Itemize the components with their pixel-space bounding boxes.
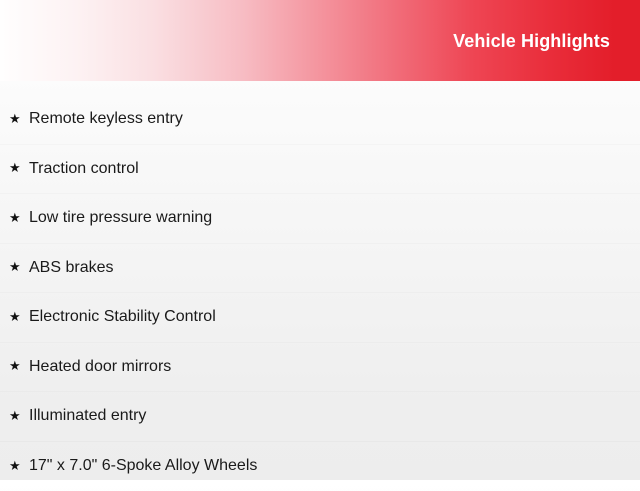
list-item: ★ ABS brakes — [0, 244, 640, 294]
star-icon: ★ — [9, 161, 29, 174]
vehicle-highlights-list: ★ Remote keyless entry ★ Traction contro… — [0, 81, 640, 491]
star-icon: ★ — [9, 211, 29, 224]
list-item: ★ Heated door mirrors — [0, 343, 640, 393]
list-item: ★ Illuminated entry — [0, 392, 640, 442]
star-icon: ★ — [9, 409, 29, 422]
list-item: ★ Electronic Stability Control — [0, 293, 640, 343]
list-item-label: Traction control — [29, 161, 139, 177]
star-icon: ★ — [9, 310, 29, 323]
list-item: ★ 17" x 7.0" 6-Spoke Alloy Wheels — [0, 442, 640, 491]
list-item-label: Illuminated entry — [29, 408, 146, 424]
star-icon: ★ — [9, 112, 29, 125]
star-icon: ★ — [9, 359, 29, 372]
star-icon: ★ — [9, 260, 29, 273]
list-item-label: Heated door mirrors — [29, 359, 171, 375]
list-item: ★ Low tire pressure warning — [0, 194, 640, 244]
list-item: ★ Traction control — [0, 145, 640, 195]
list-item-label: 17" x 7.0" 6-Spoke Alloy Wheels — [29, 458, 257, 474]
list-item-label: Electronic Stability Control — [29, 309, 216, 325]
page-title: Vehicle Highlights — [453, 32, 610, 50]
star-icon: ★ — [9, 459, 29, 472]
header-banner: Vehicle Highlights — [0, 0, 640, 81]
list-item-label: Remote keyless entry — [29, 111, 183, 127]
list-item-label: ABS brakes — [29, 260, 113, 276]
list-item-label: Low tire pressure warning — [29, 210, 212, 226]
list-item: ★ Remote keyless entry — [0, 95, 640, 145]
